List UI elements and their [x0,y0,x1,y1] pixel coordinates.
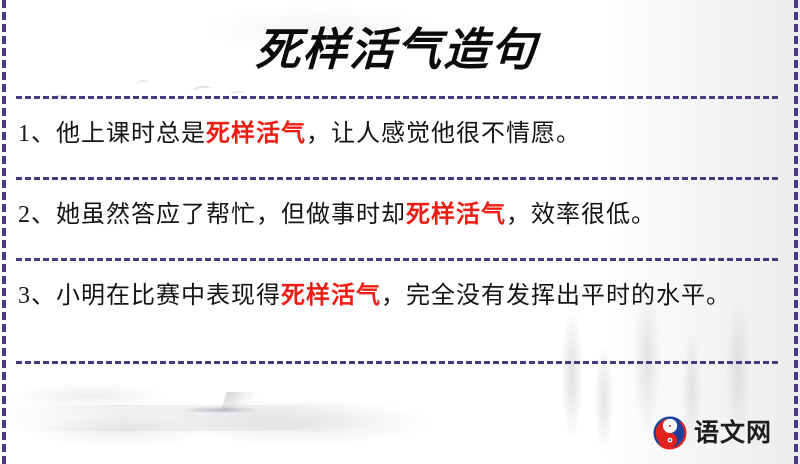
sentence-1-index: 1、 [18,121,56,147]
sentence-2-index: 2、 [18,202,56,228]
sentence-3-after: ，完全没有发挥出平时的水平。 [381,283,731,309]
sentence-2-before: 她虽然答应了帮忙，但做事时却 [56,202,406,228]
page-frame-left-border [2,0,6,464]
sentence-1-after: ，让人感觉他很不情愿。 [306,121,581,147]
site-logo-text: 语文网 [694,421,772,446]
sentence-3-highlight: 死样活气 [281,283,381,309]
content-area: 死样活气造句 1、他上课时总是死样活气，让人感觉他很不情愿。 2、她虽然答应了帮… [0,0,800,464]
site-logo[interactable]: 语文网 [653,416,772,450]
sentence-2-highlight: 死样活气 [406,202,506,228]
sentence-2-after: ，效率很低。 [506,202,656,228]
page-root: 死样活气造句 1、他上课时总是死样活气，让人感觉他很不情愿。 2、她虽然答应了帮… [0,0,800,464]
sentence-3-before: 小明在比赛中表现得 [56,283,281,309]
sentence-1-highlight: 死样活气 [206,121,306,147]
sentence-3-index: 3、 [18,283,56,309]
sentence-item-3: 3、小明在比赛中表现得死样活气，完全没有发挥出平时的水平。 [16,261,778,316]
page-frame-right-border [794,0,798,464]
sentence-item-1: 1、他上课时总是死样活气，让人感觉他很不情愿。 [16,99,778,154]
page-title: 死样活气造句 [15,0,780,77]
sentence-1-before: 他上课时总是 [56,121,206,147]
sentence-item-2: 2、她虽然答应了帮忙，但做事时却死样活气，效率很低。 [16,180,778,235]
taiji-fish-logo-icon [653,416,687,450]
divider-bottom [16,361,778,364]
